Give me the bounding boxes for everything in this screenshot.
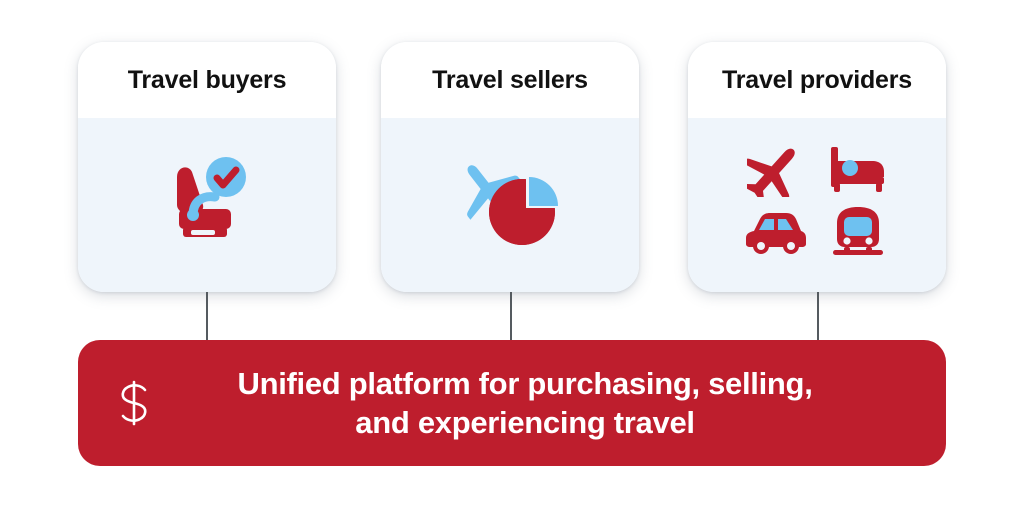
diagram-canvas: Travel buyers — [0, 0, 1024, 524]
card-title-providers: Travel providers — [722, 66, 912, 95]
card-travel-providers[interactable]: Travel providers — [688, 42, 946, 292]
train-icon — [831, 205, 885, 262]
unified-platform-banner[interactable]: Unified platform for purchasing, selling… — [78, 340, 946, 466]
airplane-seat-check-icon — [157, 153, 257, 250]
sabre-s-logo — [108, 377, 160, 429]
card-body-providers — [688, 118, 946, 292]
card-title-buyers: Travel buyers — [128, 66, 287, 95]
card-header-sellers: Travel sellers — [381, 42, 639, 118]
connector-line-providers — [817, 292, 819, 342]
connector-line-buyers — [206, 292, 208, 342]
hotel-bed-icon — [828, 143, 888, 200]
card-header-buyers: Travel buyers — [78, 42, 336, 118]
banner-headline-line2: and experiencing travel — [104, 403, 946, 442]
card-header-providers: Travel providers — [688, 42, 946, 118]
banner-headline: Unified platform for purchasing, selling… — [78, 364, 946, 442]
airplane-pie-chart-icon — [448, 149, 572, 254]
provider-icon-grid — [740, 142, 894, 262]
card-body-sellers — [381, 118, 639, 292]
airplane-icon — [747, 141, 805, 202]
card-title-sellers: Travel sellers — [432, 66, 588, 95]
card-body-buyers — [78, 118, 336, 292]
card-travel-sellers[interactable]: Travel sellers — [381, 42, 639, 292]
connector-line-sellers — [510, 292, 512, 342]
card-travel-buyers[interactable]: Travel buyers — [78, 42, 336, 292]
car-icon — [744, 207, 808, 260]
banner-headline-line1: Unified platform for purchasing, selling… — [104, 364, 946, 403]
